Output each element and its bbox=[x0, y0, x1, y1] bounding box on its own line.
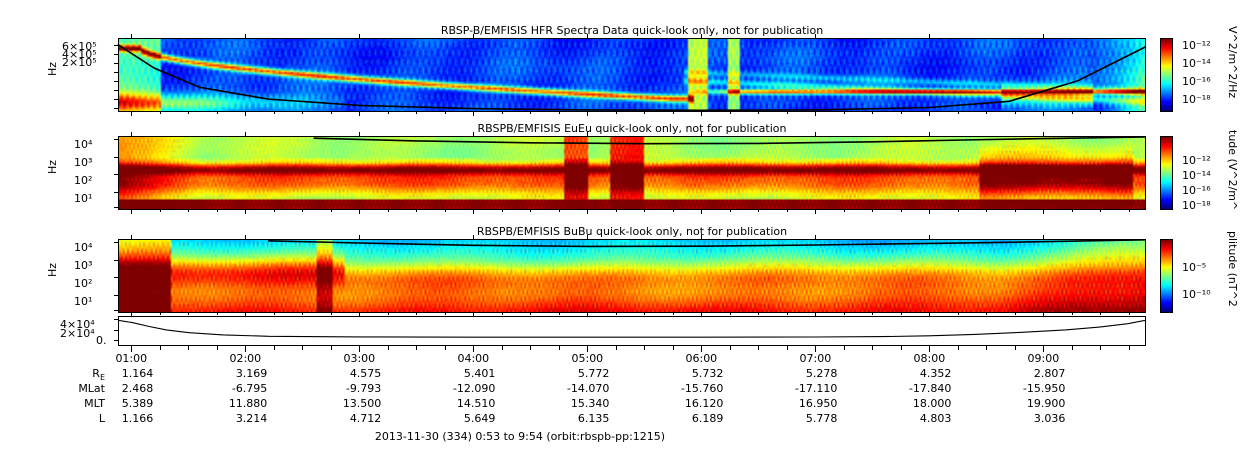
ytick bbox=[114, 207, 118, 208]
xtick-major-top bbox=[929, 34, 930, 38]
xtick-minor bbox=[901, 210, 902, 212]
xtick-minor bbox=[644, 112, 645, 114]
xtick-label-0400: 04:00 bbox=[453, 352, 493, 365]
xtick-minor bbox=[559, 210, 560, 212]
xtick-minor bbox=[616, 112, 617, 114]
xtick-label-0800: 08:00 bbox=[909, 352, 949, 365]
xtick-major-top bbox=[1043, 34, 1044, 38]
colorbar-bubu-label: plitude (nT^2 bbox=[1226, 231, 1239, 307]
xtick-minor bbox=[1100, 210, 1101, 212]
xtick-minor bbox=[302, 112, 303, 114]
ephemeris-cell: 16.950 bbox=[757, 397, 837, 410]
ephemeris-cell: 14.510 bbox=[415, 397, 495, 410]
ephemeris-cell: 5.401 bbox=[415, 367, 495, 380]
xtick-major bbox=[245, 210, 246, 214]
xtick-minor bbox=[1072, 112, 1073, 114]
xtick-minor bbox=[872, 346, 873, 350]
ytick-alt-1: 2×10⁴ bbox=[60, 327, 95, 340]
xtick-minor bbox=[388, 313, 389, 315]
ephemeris-cell: -12.090 bbox=[415, 382, 495, 395]
figure-footer: 2013-11-30 (334) 0:53 to 9:54 (orbit:rbs… bbox=[0, 430, 1040, 443]
xtick-major bbox=[131, 210, 132, 214]
xtick-major bbox=[815, 112, 816, 116]
xtick-minor bbox=[559, 112, 560, 114]
xtick-minor bbox=[1129, 313, 1130, 315]
panel-title-hfr: RBSP-B/EMFISIS HFR Spectra Data quick-lo… bbox=[118, 24, 1146, 37]
xtick-minor bbox=[616, 210, 617, 212]
xtick-minor bbox=[1100, 313, 1101, 315]
xtick-major-top bbox=[245, 312, 246, 316]
xtick-minor bbox=[1015, 112, 1016, 114]
colorbar-bubu-tick-1: 10⁻¹⁰ bbox=[1182, 288, 1211, 301]
ephemeris-cell: 1.164 bbox=[73, 367, 153, 380]
ephemeris-cell: 16.120 bbox=[643, 397, 723, 410]
xtick-minor bbox=[274, 313, 275, 315]
ephemeris-cell: 4.712 bbox=[301, 412, 381, 425]
xtick-major-top bbox=[929, 132, 930, 136]
xtick-minor bbox=[730, 112, 731, 114]
xtick-label-0700: 07:00 bbox=[795, 352, 835, 365]
xtick-minor bbox=[160, 210, 161, 212]
xtick-major-top bbox=[473, 235, 474, 239]
xtick-minor bbox=[217, 313, 218, 315]
altitude-line-plot bbox=[118, 316, 1146, 346]
xtick-minor bbox=[331, 112, 332, 114]
xtick-minor bbox=[1100, 346, 1101, 350]
xtick-minor bbox=[901, 112, 902, 114]
xtick-major-top bbox=[473, 132, 474, 136]
ephemeris-cell: -15.950 bbox=[985, 382, 1065, 395]
ephemeris-cell: 6.189 bbox=[643, 412, 723, 425]
xtick-minor bbox=[844, 346, 845, 350]
xtick-major bbox=[245, 112, 246, 116]
xtick-minor bbox=[872, 313, 873, 315]
xtick-minor bbox=[188, 313, 189, 315]
xtick-major bbox=[473, 210, 474, 214]
colorbar-hfr-tick-1: 10⁻¹⁴ bbox=[1182, 57, 1211, 70]
ytick bbox=[114, 174, 118, 175]
xtick-major-top bbox=[587, 235, 588, 239]
ytick-eueu-2: 10² bbox=[74, 174, 92, 187]
ephemeris-cell: 3.036 bbox=[985, 412, 1065, 425]
xtick-minor bbox=[188, 112, 189, 114]
ytick-bubu-1: 10³ bbox=[74, 259, 92, 272]
ephemeris-cell: 4.575 bbox=[301, 367, 381, 380]
xtick-minor bbox=[331, 313, 332, 315]
ephemeris-cell: 2.468 bbox=[73, 382, 153, 395]
xtick-major bbox=[815, 346, 816, 352]
colorbar-eueu-tick-1: 10⁻¹⁴ bbox=[1182, 169, 1211, 182]
xtick-minor bbox=[445, 210, 446, 212]
xtick-major-top bbox=[929, 235, 930, 239]
ephemeris-cell: 11.880 bbox=[187, 397, 267, 410]
xtick-minor bbox=[787, 346, 788, 350]
xtick-major bbox=[245, 346, 246, 352]
spectrogram-hfr bbox=[118, 38, 1146, 112]
xtick-minor bbox=[844, 313, 845, 315]
xtick-label-0900: 09:00 bbox=[1023, 352, 1063, 365]
ephemeris-cell: 18.000 bbox=[871, 397, 951, 410]
xtick-major-top bbox=[815, 132, 816, 136]
xtick-minor bbox=[331, 210, 332, 212]
xtick-major-top bbox=[473, 312, 474, 316]
ytick bbox=[114, 340, 118, 341]
xtick-minor bbox=[986, 313, 987, 315]
colorbar-hfr-label: V^2/m^2/Hz bbox=[1226, 26, 1239, 98]
xtick-major-top bbox=[359, 132, 360, 136]
ytick bbox=[114, 99, 118, 100]
xtick-major-top bbox=[815, 312, 816, 316]
colorbar-hfr-tick-3: 10⁻¹⁸ bbox=[1182, 93, 1211, 106]
xtick-minor bbox=[1100, 112, 1101, 114]
xtick-minor bbox=[758, 313, 759, 315]
xtick-major-top bbox=[245, 132, 246, 136]
xtick-minor bbox=[445, 346, 446, 350]
ephemeris-cell: 4.803 bbox=[871, 412, 951, 425]
xtick-major bbox=[359, 112, 360, 116]
xtick-major-top bbox=[701, 132, 702, 136]
ytick bbox=[114, 63, 118, 64]
xtick-minor bbox=[901, 346, 902, 350]
xtick-major-top bbox=[131, 235, 132, 239]
xtick-label-0500: 05:00 bbox=[567, 352, 607, 365]
xtick-major-top bbox=[1043, 235, 1044, 239]
yaxis-title-bubu: Hz bbox=[46, 263, 59, 277]
xtick-minor bbox=[673, 313, 674, 315]
xtick-minor bbox=[502, 313, 503, 315]
xtick-major-top bbox=[1043, 132, 1044, 136]
xtick-minor bbox=[1129, 210, 1130, 212]
xtick-minor bbox=[217, 112, 218, 114]
xtick-major bbox=[473, 112, 474, 116]
xtick-minor bbox=[1015, 313, 1016, 315]
xtick-minor bbox=[844, 210, 845, 212]
ytick bbox=[114, 45, 118, 46]
colorbar-bubu bbox=[1160, 239, 1173, 313]
xtick-minor bbox=[958, 313, 959, 315]
xtick-minor bbox=[1129, 112, 1130, 114]
colorbar-bubu-tick-0: 10⁻⁵ bbox=[1182, 261, 1206, 274]
ephemeris-cell: 4.352 bbox=[871, 367, 951, 380]
xtick-minor bbox=[1072, 313, 1073, 315]
xtick-major-top bbox=[359, 312, 360, 316]
ephemeris-cell: -6.795 bbox=[187, 382, 267, 395]
xtick-major-top bbox=[359, 235, 360, 239]
xtick-minor bbox=[274, 346, 275, 350]
xtick-minor bbox=[388, 346, 389, 350]
xtick-major bbox=[1043, 346, 1044, 352]
xtick-minor bbox=[388, 112, 389, 114]
xtick-minor bbox=[986, 112, 987, 114]
ytick bbox=[114, 330, 118, 331]
xtick-minor bbox=[758, 210, 759, 212]
spectrogram-eueu bbox=[118, 136, 1146, 210]
xtick-major-top bbox=[815, 235, 816, 239]
xtick-minor bbox=[160, 112, 161, 114]
xtick-major bbox=[701, 346, 702, 352]
ytick bbox=[114, 319, 118, 320]
xtick-minor bbox=[644, 346, 645, 350]
xtick-label-0600: 06:00 bbox=[681, 352, 721, 365]
xtick-minor bbox=[758, 112, 759, 114]
xtick-major bbox=[815, 210, 816, 214]
xtick-major bbox=[701, 112, 702, 116]
xtick-minor bbox=[188, 210, 189, 212]
xtick-minor bbox=[416, 313, 417, 315]
xtick-major bbox=[131, 112, 132, 116]
xtick-minor bbox=[416, 112, 417, 114]
ephemeris-cell: 2.807 bbox=[985, 367, 1065, 380]
xtick-major-top bbox=[929, 312, 930, 316]
xtick-major bbox=[587, 346, 588, 352]
xtick-major bbox=[587, 210, 588, 214]
ytick-hfr-2: 2×10⁵ bbox=[62, 56, 97, 69]
xtick-minor bbox=[445, 112, 446, 114]
ephemeris-cell: 5.732 bbox=[643, 367, 723, 380]
xtick-minor bbox=[388, 210, 389, 212]
xtick-minor bbox=[559, 313, 560, 315]
xtick-minor bbox=[986, 210, 987, 212]
xtick-major bbox=[359, 346, 360, 352]
ephemeris-cell: -17.110 bbox=[757, 382, 837, 395]
xtick-minor bbox=[958, 112, 959, 114]
xtick-minor bbox=[616, 346, 617, 350]
colorbar-hfr-tick-2: 10⁻¹⁶ bbox=[1182, 75, 1211, 88]
xtick-minor bbox=[872, 112, 873, 114]
xtick-major bbox=[587, 112, 588, 116]
xtick-major bbox=[929, 346, 930, 352]
ephemeris-cell: 5.389 bbox=[73, 397, 153, 410]
ytick bbox=[114, 81, 118, 82]
ytick-bubu-0: 10⁴ bbox=[74, 241, 92, 254]
yaxis-title-hfr: Hz bbox=[46, 62, 59, 76]
xtick-minor bbox=[416, 346, 417, 350]
xtick-major bbox=[1043, 210, 1044, 214]
xtick-minor bbox=[331, 346, 332, 350]
xtick-minor bbox=[502, 112, 503, 114]
xtick-minor bbox=[188, 346, 189, 350]
xtick-major bbox=[131, 346, 132, 352]
xtick-minor bbox=[958, 346, 959, 350]
xtick-major-top bbox=[131, 34, 132, 38]
colorbar-eueu bbox=[1160, 136, 1173, 210]
xtick-minor bbox=[530, 210, 531, 212]
ephemeris-cell: -9.793 bbox=[301, 382, 381, 395]
xtick-major-top bbox=[1043, 312, 1044, 316]
ephemeris-cell: 19.900 bbox=[985, 397, 1065, 410]
xtick-major-top bbox=[815, 34, 816, 38]
colorbar-eueu-tick-2: 10⁻¹⁶ bbox=[1182, 184, 1211, 197]
xtick-minor bbox=[416, 210, 417, 212]
xtick-minor bbox=[445, 313, 446, 315]
xtick-major-top bbox=[587, 34, 588, 38]
xtick-minor bbox=[787, 313, 788, 315]
xtick-major bbox=[701, 210, 702, 214]
ephemeris-cell: -15.760 bbox=[643, 382, 723, 395]
colorbar-hfr bbox=[1160, 38, 1173, 112]
xtick-major-top bbox=[701, 235, 702, 239]
xtick-minor bbox=[644, 313, 645, 315]
xtick-minor bbox=[559, 346, 560, 350]
xtick-minor bbox=[787, 112, 788, 114]
xtick-minor bbox=[274, 210, 275, 212]
xtick-minor bbox=[673, 346, 674, 350]
ytick bbox=[114, 242, 118, 243]
yaxis-title-eueu: Hz bbox=[46, 160, 59, 174]
xtick-major bbox=[1043, 112, 1044, 116]
xtick-minor bbox=[502, 210, 503, 212]
ytick bbox=[114, 72, 118, 73]
ytick-eueu-0: 10⁴ bbox=[74, 138, 92, 151]
xtick-major-top bbox=[245, 235, 246, 239]
xtick-minor bbox=[530, 346, 531, 350]
colorbar-eueu-tick-0: 10⁻¹² bbox=[1182, 154, 1211, 167]
xtick-major-top bbox=[131, 132, 132, 136]
xtick-minor bbox=[302, 210, 303, 212]
ytick bbox=[114, 260, 118, 261]
ephemeris-cell: -17.840 bbox=[871, 382, 951, 395]
xtick-minor bbox=[1129, 346, 1130, 350]
xtick-label-0300: 03:00 bbox=[339, 352, 379, 365]
xtick-minor bbox=[1015, 210, 1016, 212]
xtick-minor bbox=[730, 210, 731, 212]
ytick bbox=[114, 90, 118, 91]
xtick-major-top bbox=[701, 312, 702, 316]
ytick bbox=[114, 157, 118, 158]
ytick bbox=[114, 54, 118, 55]
xtick-major-top bbox=[359, 34, 360, 38]
panel-title-bubu: RBSPB/EMFISIS BuBu quick-look only, not … bbox=[118, 225, 1146, 238]
ytick bbox=[114, 277, 118, 278]
xtick-minor bbox=[530, 313, 531, 315]
xtick-minor bbox=[730, 346, 731, 350]
ephemeris-cell: 3.214 bbox=[187, 412, 267, 425]
ephemeris-cell: -14.070 bbox=[529, 382, 609, 395]
xtick-minor bbox=[730, 313, 731, 315]
ephemeris-cell: 6.135 bbox=[529, 412, 609, 425]
xtick-minor bbox=[1072, 210, 1073, 212]
xtick-major-top bbox=[587, 312, 588, 316]
panel-title-eueu: RBSPB/EMFISIS EuEu quick-look only, not … bbox=[118, 122, 1146, 135]
ytick-eueu-3: 10¹ bbox=[74, 192, 92, 205]
xtick-minor bbox=[302, 313, 303, 315]
xtick-major bbox=[359, 210, 360, 214]
ytick bbox=[114, 295, 118, 296]
xtick-minor bbox=[844, 112, 845, 114]
xtick-major bbox=[929, 112, 930, 116]
ephemeris-cell: 5.778 bbox=[757, 412, 837, 425]
xtick-minor bbox=[274, 112, 275, 114]
xtick-minor bbox=[530, 112, 531, 114]
ytick bbox=[114, 108, 118, 109]
xtick-minor bbox=[872, 210, 873, 212]
ephemeris-cell: 5.278 bbox=[757, 367, 837, 380]
ytick bbox=[114, 310, 118, 311]
xtick-major-top bbox=[131, 312, 132, 316]
xtick-label-0100: 01:00 bbox=[111, 352, 151, 365]
xtick-major bbox=[473, 346, 474, 352]
ytick bbox=[114, 139, 118, 140]
ytick-eueu-1: 10³ bbox=[74, 156, 92, 169]
xtick-minor bbox=[1015, 346, 1016, 350]
xtick-minor bbox=[986, 346, 987, 350]
xtick-minor bbox=[217, 346, 218, 350]
xtick-minor bbox=[616, 313, 617, 315]
xtick-minor bbox=[958, 210, 959, 212]
xtick-minor bbox=[160, 313, 161, 315]
xtick-minor bbox=[673, 112, 674, 114]
xtick-major-top bbox=[473, 34, 474, 38]
colorbar-eueu-label: tude (V^2/m^ bbox=[1226, 130, 1239, 210]
ytick bbox=[114, 192, 118, 193]
xtick-major-top bbox=[701, 34, 702, 38]
ytick-bubu-3: 10¹ bbox=[74, 295, 92, 308]
xtick-major-top bbox=[587, 132, 588, 136]
xtick-minor bbox=[673, 210, 674, 212]
ephemeris-cell: 15.340 bbox=[529, 397, 609, 410]
xtick-minor bbox=[787, 210, 788, 212]
xtick-major-top bbox=[245, 34, 246, 38]
ytick-bubu-2: 10² bbox=[74, 277, 92, 290]
xtick-minor bbox=[1072, 346, 1073, 350]
ephemeris-cell: 5.772 bbox=[529, 367, 609, 380]
ephemeris-cell: 3.169 bbox=[187, 367, 267, 380]
xtick-minor bbox=[302, 346, 303, 350]
xtick-minor bbox=[758, 346, 759, 350]
ytick-alt-2: 0. bbox=[96, 334, 107, 347]
ephemeris-cell: 13.500 bbox=[301, 397, 381, 410]
xtick-minor bbox=[502, 346, 503, 350]
colorbar-hfr-tick-0: 10⁻¹² bbox=[1182, 39, 1211, 52]
xtick-minor bbox=[901, 313, 902, 315]
ephemeris-cell: 1.166 bbox=[73, 412, 153, 425]
ephemeris-cell: 5.649 bbox=[415, 412, 495, 425]
xtick-minor bbox=[644, 210, 645, 212]
xtick-major bbox=[929, 210, 930, 214]
xtick-label-0200: 02:00 bbox=[225, 352, 265, 365]
spectrogram-bubu bbox=[118, 239, 1146, 313]
xtick-minor bbox=[217, 210, 218, 212]
colorbar-eueu-tick-3: 10⁻¹⁸ bbox=[1182, 199, 1211, 212]
xtick-minor bbox=[160, 346, 161, 350]
